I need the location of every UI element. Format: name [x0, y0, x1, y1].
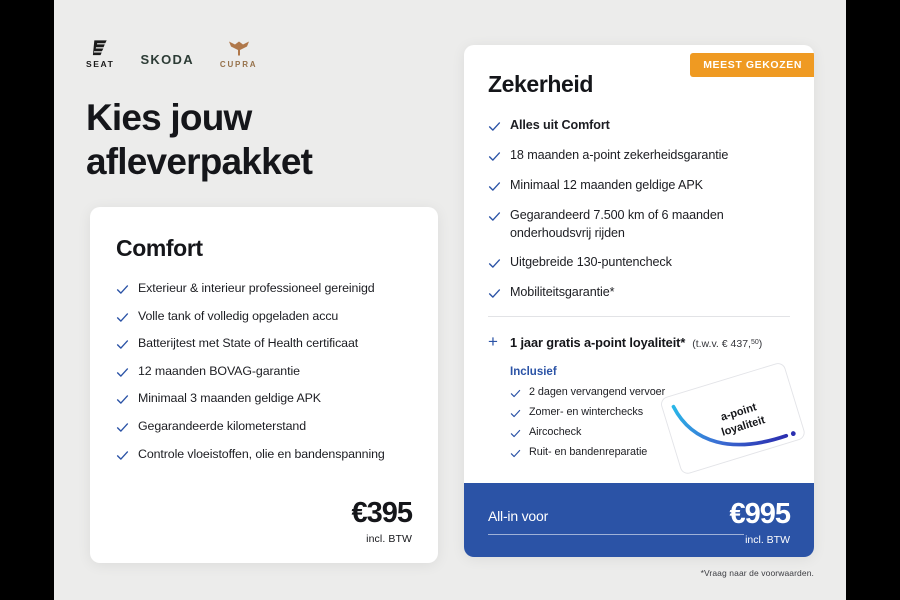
- allin-rule: [488, 534, 744, 535]
- feature-label: Minimaal 3 maanden geldige APK: [138, 390, 321, 408]
- list-item: Mobiliteitsgarantie*: [488, 284, 790, 302]
- feature-label: Controle vloeistoffen, olie en bandenspa…: [138, 446, 385, 464]
- cupra-logo: CUPRA: [220, 40, 257, 69]
- loyalty-plus-title: 1 jaar gratis a-point loyaliteit*: [510, 335, 685, 350]
- inclusief-item-label: Zomer- en winterchecks: [529, 406, 643, 418]
- check-icon: [116, 366, 129, 379]
- check-icon: [116, 283, 129, 296]
- package-card-comfort[interactable]: Comfort Exterieur & interieur profession…: [90, 207, 438, 563]
- check-icon: [510, 408, 521, 419]
- zekerheid-footer: All-in voor €995 incl. BTW: [464, 483, 814, 557]
- check-icon: [116, 421, 129, 434]
- seat-mark-icon: [91, 38, 110, 57]
- comfort-price-note: incl. BTW: [351, 533, 412, 545]
- check-icon: [488, 257, 501, 270]
- list-item: 18 maanden a-point zekerheidsgarantie: [488, 147, 790, 165]
- list-item: Volle tank of volledig opgeladen accu: [116, 308, 412, 326]
- zekerheid-card-body: Zekerheid Alles uit Comfort18 maanden a-…: [464, 45, 814, 474]
- feature-label: 18 maanden a-point zekerheidsgarantie: [510, 147, 728, 165]
- check-icon: [488, 180, 501, 193]
- list-item: 12 maanden BOVAG-garantie: [116, 363, 412, 381]
- cupra-mark-icon: [228, 40, 250, 57]
- check-icon: [488, 120, 501, 133]
- check-icon: [116, 311, 129, 324]
- list-item: Controle vloeistoffen, olie en bandenspa…: [116, 446, 412, 464]
- inclusief-block: Inclusief 2 dagen vervangend vervoerZome…: [488, 366, 790, 459]
- check-icon: [116, 393, 129, 406]
- feature-label: Uitgebreide 130-puntencheck: [510, 254, 672, 272]
- list-item: Batterijtest met State of Health certifi…: [116, 335, 412, 353]
- comfort-card-title: Comfort: [116, 235, 412, 262]
- feature-label: 12 maanden BOVAG-garantie: [138, 363, 300, 381]
- letterbox-bar-right: [846, 0, 900, 600]
- feature-label: Exterieur & interieur professioneel gere…: [138, 280, 375, 298]
- list-item: Minimaal 12 maanden geldige APK: [488, 177, 790, 195]
- check-icon: [488, 150, 501, 163]
- feature-label: Gegarandeerde kilometerstand: [138, 418, 306, 436]
- check-icon: [488, 210, 501, 223]
- comfort-price: €395: [351, 499, 412, 528]
- check-icon: [116, 338, 129, 351]
- disclaimer-text: *Vraag naar de voorwaarden.: [701, 568, 814, 578]
- zekerheid-price: €995: [729, 500, 790, 529]
- list-item: Uitgebreide 130-puntencheck: [488, 254, 790, 272]
- inclusief-item-label: Ruit- en bandenreparatie: [529, 446, 647, 458]
- check-icon: [488, 287, 501, 300]
- feature-label: Alles uit Comfort: [510, 117, 610, 135]
- list-item: Gegarandeerd 7.500 km of 6 maanden onder…: [488, 207, 790, 243]
- promo-canvas: SEAT SKODA CUPRA Kies jouw afleverpakket…: [54, 0, 846, 600]
- seat-logo: SEAT: [86, 38, 114, 69]
- screenshot-stage: SEAT SKODA CUPRA Kies jouw afleverpakket…: [0, 0, 900, 600]
- inclusief-item-label: Aircocheck: [529, 426, 581, 438]
- brand-logo-row: SEAT SKODA CUPRA: [86, 38, 257, 69]
- feature-label: Gegarandeerd 7.500 km of 6 maanden onder…: [510, 207, 790, 243]
- inclusief-item-label: 2 dagen vervangend vervoer: [529, 386, 665, 398]
- skoda-logo: SKODA: [140, 52, 193, 69]
- zekerheid-price-note: incl. BTW: [729, 534, 790, 546]
- loyalty-plus-note: (t.w.v. € 437,50): [692, 338, 762, 350]
- check-icon: [510, 428, 521, 439]
- loyalty-plus-row: + 1 jaar gratis a-point loyaliteit*(t.w.…: [488, 333, 790, 352]
- feature-label: Minimaal 12 maanden geldige APK: [510, 177, 703, 195]
- list-item: Gegarandeerde kilometerstand: [116, 418, 412, 436]
- check-icon: [510, 448, 521, 459]
- feature-label: Batterijtest met State of Health certifi…: [138, 335, 358, 353]
- check-icon: [116, 449, 129, 462]
- feature-label: Volle tank of volledig opgeladen accu: [138, 308, 338, 326]
- allin-label: All-in voor: [488, 500, 548, 524]
- cupra-wordmark: CUPRA: [220, 60, 257, 69]
- comfort-price-block: €395 incl. BTW: [351, 499, 412, 545]
- skoda-wordmark: SKODA: [140, 52, 193, 67]
- letterbox-bar-left: [0, 0, 54, 600]
- status-badge: MEEST GEKOZEN: [690, 53, 814, 77]
- seat-wordmark: SEAT: [86, 59, 114, 69]
- zekerheid-feature-list: Alles uit Comfort18 maanden a-point zeke…: [488, 117, 790, 302]
- package-card-zekerheid[interactable]: MEEST GEKOZEN Zekerheid Alles uit Comfor…: [464, 45, 814, 557]
- divider: [488, 316, 790, 317]
- list-item: Exterieur & interieur professioneel gere…: [116, 280, 412, 298]
- list-item: Alles uit Comfort: [488, 117, 790, 135]
- page-title: Kies jouw afleverpakket: [86, 96, 416, 183]
- allin-price-block: €995 incl. BTW: [729, 500, 790, 546]
- plus-icon: +: [488, 333, 510, 350]
- feature-label: Mobiliteitsgarantie*: [510, 284, 614, 302]
- comfort-feature-list: Exterieur & interieur professioneel gere…: [116, 280, 412, 463]
- check-icon: [510, 388, 521, 399]
- list-item: Minimaal 3 maanden geldige APK: [116, 390, 412, 408]
